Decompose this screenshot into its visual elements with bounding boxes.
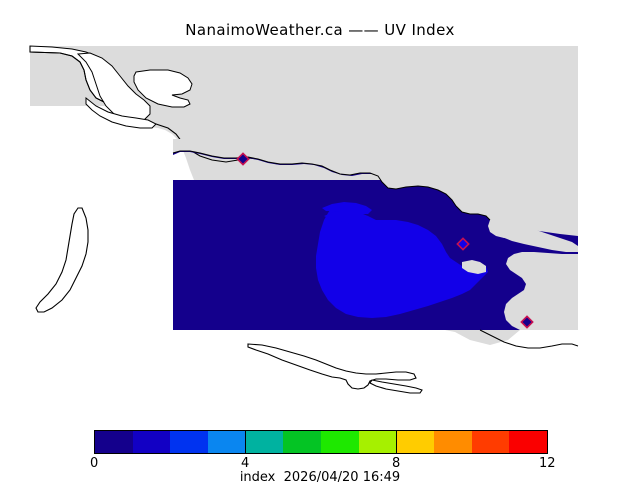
colorbar-tick-12 bbox=[547, 430, 548, 454]
colorbar-segment bbox=[246, 431, 284, 453]
colorbar-segment bbox=[283, 431, 321, 453]
colorbar-segment bbox=[396, 431, 434, 453]
colorbar-area: 0 4 8 12 index 2026/04/20 16:49 bbox=[0, 420, 640, 480]
colorbar-segment bbox=[170, 431, 208, 453]
colorbar-tick-4 bbox=[245, 430, 246, 454]
uv-index-map-page: NanaimoWeather.ca —— UV Index bbox=[0, 0, 640, 480]
colorbar-segment bbox=[133, 431, 171, 453]
colorbar-label-mid2: 8 bbox=[392, 456, 400, 471]
colorbar-segment bbox=[321, 431, 359, 453]
colorbar-segment bbox=[359, 431, 397, 453]
colorbar-segment bbox=[95, 431, 133, 453]
colorbar-segment bbox=[509, 431, 547, 453]
page-title: NanaimoWeather.ca —— UV Index bbox=[0, 21, 640, 39]
colorbar-segment bbox=[472, 431, 510, 453]
map-area bbox=[0, 40, 640, 400]
map-svg bbox=[0, 40, 640, 400]
colorbar-caption: index 2026/04/20 16:49 bbox=[0, 470, 640, 485]
colorbar-label-max: 12 bbox=[539, 456, 556, 471]
colorbar[interactable] bbox=[94, 430, 548, 454]
colorbar-segment bbox=[434, 431, 472, 453]
colorbar-segment bbox=[208, 431, 246, 453]
colorbar-label-mid: 4 bbox=[241, 456, 249, 471]
colorbar-label-min: 0 bbox=[90, 456, 98, 471]
colorbar-tick-8 bbox=[396, 430, 397, 454]
colorbar-tick-0 bbox=[94, 430, 95, 454]
